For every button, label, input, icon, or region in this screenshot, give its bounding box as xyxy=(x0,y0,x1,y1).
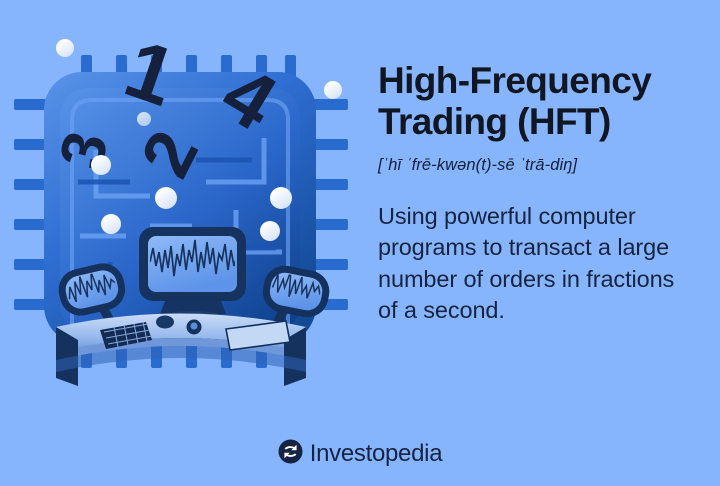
brand-name: Investopedia xyxy=(310,442,443,466)
trackpad-center-icon xyxy=(191,323,198,330)
dot xyxy=(101,214,121,234)
brand-logo: Investopedia xyxy=(0,439,720,469)
mouse-icon xyxy=(156,316,174,329)
dot xyxy=(270,187,292,209)
dot xyxy=(155,187,177,209)
title-line-2: Trading (HFT) xyxy=(378,101,611,142)
term-text-block: High-Frequency Trading (HFT) [ˈhī ˈfrē-k… xyxy=(378,60,698,327)
page-title: High-Frequency Trading (HFT) xyxy=(378,60,698,143)
dot xyxy=(260,221,280,241)
definition-text: Using powerful computer programs to tran… xyxy=(378,201,698,327)
microchip-trading-desk-illustration: 1 4 3 2 xyxy=(0,0,360,430)
definition-card: 1 4 3 2 xyxy=(0,0,720,486)
dot xyxy=(91,155,111,175)
pronunciation: [ˈhī ˈfrē-kwən(t)-sē ˈtrā-diŋ] xyxy=(378,156,698,175)
investopedia-logo-icon xyxy=(278,439,303,469)
trading-desk xyxy=(56,314,306,387)
dot xyxy=(324,81,342,99)
title-line-1: High-Frequency xyxy=(378,60,651,101)
dot xyxy=(137,112,151,126)
dot xyxy=(56,39,74,57)
